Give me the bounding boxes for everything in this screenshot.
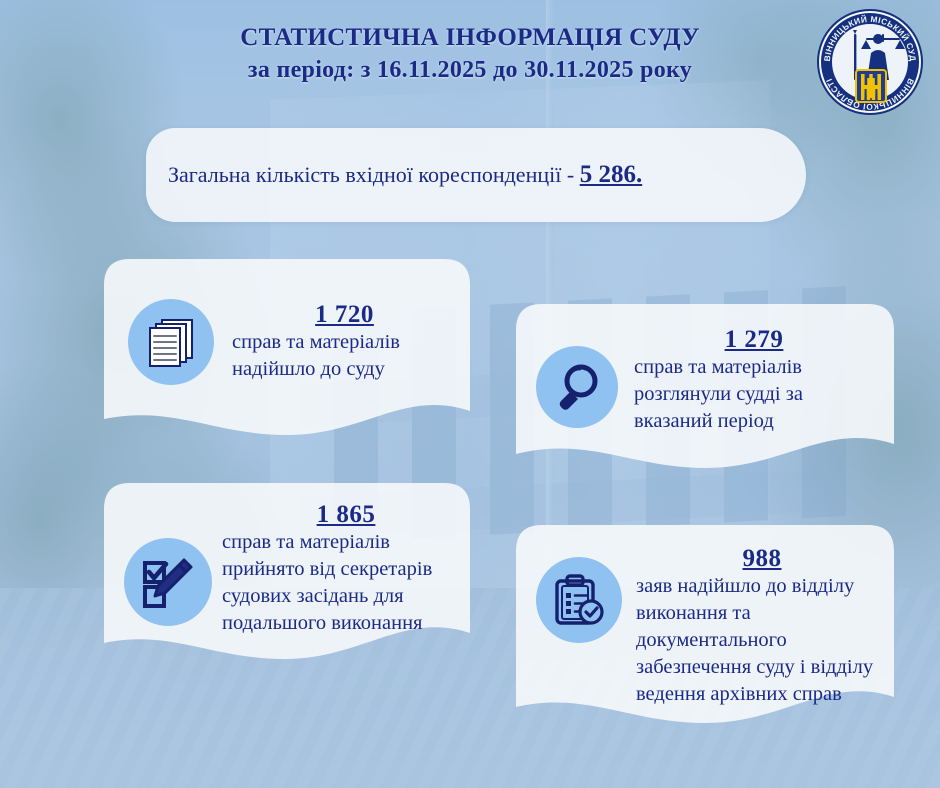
card-value-reviewed: 1 279: [634, 326, 874, 353]
page-title: СТАТИСТИЧНА ІНФОРМАЦІЯ СУДУ: [0, 22, 940, 54]
card-content: 988 заяв надійшло до відділу виконання т…: [516, 525, 894, 737]
total-correspondence-banner: Загальна кількість вхідної кореспонденці…: [146, 128, 806, 222]
card-label-incoming: справ та матеріалів надійшло до суду: [232, 331, 400, 380]
card-text-secretaries: 1 865 справ та матеріалів прийнято від с…: [222, 501, 470, 637]
card-label-secretaries: справ та матеріалів прийнято від секрета…: [222, 531, 432, 634]
stat-card-execution: 988 заяв надійшло до відділу виконання т…: [516, 525, 894, 737]
magnifier-icon: [536, 346, 618, 428]
card-value-execution: 988: [636, 545, 888, 572]
clipboard-check-icon: [536, 557, 622, 643]
card-content: 1 865 справ та матеріалів прийнято від с…: [104, 483, 470, 674]
poster-header: СТАТИСТИЧНА ІНФОРМАЦІЯ СУДУ за період: з…: [0, 22, 940, 86]
card-label-execution: заяв надійшло до відділу виконання та до…: [636, 575, 873, 705]
banner-text: Загальна кількість вхідної кореспонденці…: [146, 161, 642, 189]
page-subtitle-period: за період: з 16.11.2025 до 30.11.2025 ро…: [0, 54, 940, 86]
card-text-reviewed: 1 279 справ та матеріалів розглянули суд…: [634, 326, 874, 435]
trident-icon: [861, 74, 881, 100]
stat-card-secretaries: 1 865 справ та матеріалів прийнято від с…: [104, 483, 470, 674]
card-value-incoming: 1 720: [232, 301, 457, 328]
checklist-pencil-icon: [124, 538, 212, 626]
card-content: 1 279 справ та матеріалів розглянули суд…: [516, 304, 894, 482]
stat-card-reviewed: 1 279 справ та матеріалів розглянули суд…: [516, 304, 894, 482]
infographic-poster: СТАТИСТИЧНА ІНФОРМАЦІЯ СУДУ за період: з…: [0, 0, 940, 788]
card-value-secretaries: 1 865: [222, 501, 470, 528]
banner-label: Загальна кількість вхідної кореспонденці…: [168, 162, 580, 187]
documents-stack-icon: [128, 299, 214, 385]
card-label-reviewed: справ та матеріалів розглянули судді за …: [634, 356, 803, 432]
card-text-incoming: 1 720 справ та матеріалів надійшло до су…: [232, 301, 457, 383]
court-emblem-logo: ВІННИЦЬКИЙ МІСЬКИЙ СУД ВІННИЦЬКОЇ ОБЛАСТ…: [816, 8, 924, 116]
card-content: 1 720 справ та матеріалів надійшло до су…: [104, 259, 470, 449]
card-text-execution: 988 заяв надійшло до відділу виконання т…: [636, 545, 888, 708]
stat-card-incoming: 1 720 справ та матеріалів надійшло до су…: [104, 259, 470, 449]
banner-value: 5 286.: [580, 161, 643, 188]
